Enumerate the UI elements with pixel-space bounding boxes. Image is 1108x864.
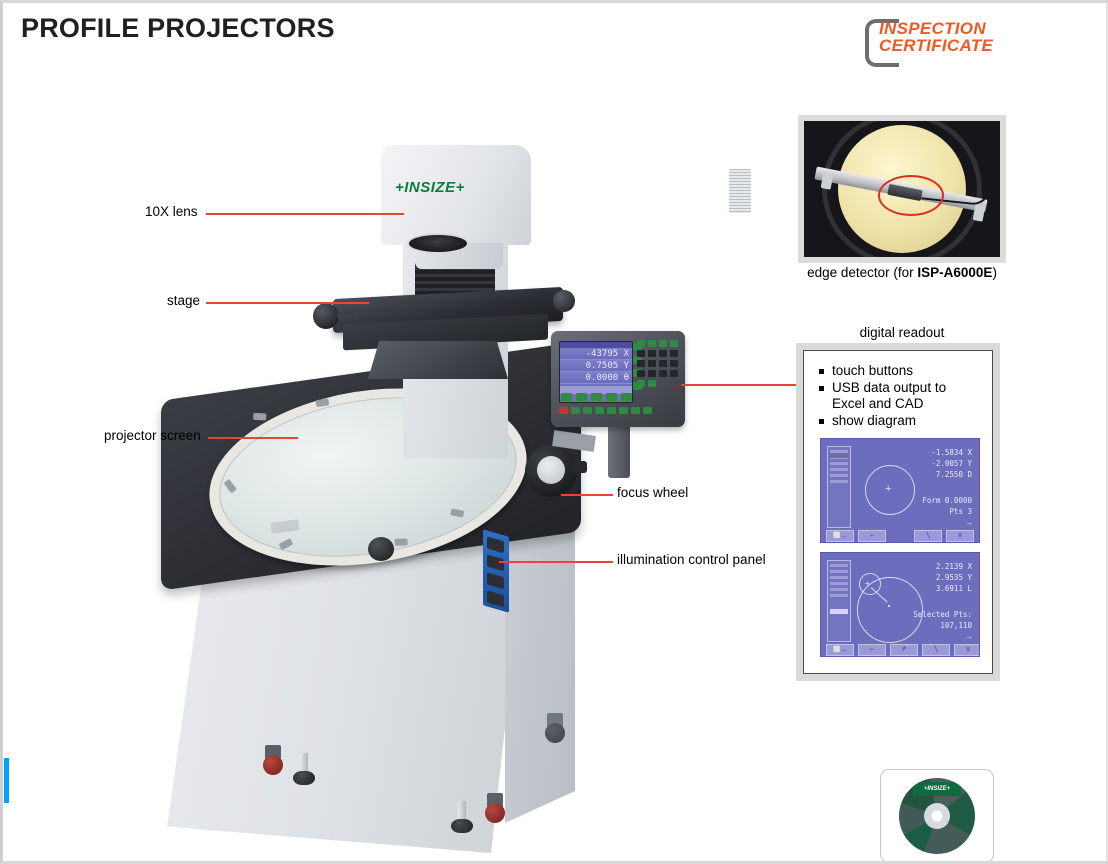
illumination-switch[interactable] [487,590,504,607]
dro-readings: 2.2139 X 2.9535 Y 3.6911 L [936,561,972,594]
dro-function-key[interactable] [606,393,617,401]
dro-key[interactable] [637,360,645,367]
dro-bottom-key[interactable] [607,407,616,414]
dro-key[interactable] [648,380,656,387]
dro-next-arrow-icon[interactable]: → [965,632,973,641]
dro-extra-readings: Form 0.0000 Pts 3 [922,495,972,517]
caster-wheel [261,745,285,775]
screen-lock-knob[interactable] [368,537,394,561]
dro-toolbar[interactable]: ⬜→ ⌐ ╲ ≡ [821,529,979,542]
dro-value-x: -43795 X [560,348,632,360]
dro-bottom-key[interactable] [619,407,628,414]
dro-tool-button[interactable]: ⬜→ [826,644,854,656]
dro-bottom-key[interactable] [571,407,580,414]
dro-key[interactable] [637,380,645,387]
callout-leader-illumination-control-panel [499,561,613,563]
dro-function-key[interactable] [576,393,587,401]
dro-plot-center-dot [888,605,890,607]
dro-value-y: 0.7505 Y [560,360,632,372]
focus-wheel[interactable] [525,445,577,497]
dro-function-key[interactable] [591,393,602,401]
callout-leader-digital-readout [681,384,797,386]
dro-function-key[interactable] [621,393,632,401]
dro-key[interactable] [659,360,667,367]
edge-detector-image [798,115,1006,263]
screen-clip [253,413,266,421]
dro-tool-button[interactable]: ⬜→ [826,530,854,542]
stage-base [368,341,508,379]
dro-key[interactable] [637,340,645,347]
edge-detector-model: ISP-A6000E [917,265,992,280]
focus-arm [571,461,587,473]
dro-bottom-key[interactable] [583,407,592,414]
dro-sidebar [827,560,851,642]
dro-bottom-key[interactable] [643,407,652,414]
dro-bottom-key[interactable] [595,407,604,414]
dro-function-key[interactable] [561,393,572,401]
dro-reading: 2.9535 Y [936,572,972,583]
stage-shaft-left [337,312,359,319]
dro-key[interactable] [648,340,656,347]
stage-knob-left[interactable] [313,303,339,329]
callout-leader-projector-screen [208,437,298,439]
digital-readout-panel: touch buttons USB data output to Excel a… [796,343,1000,681]
dro-screenshot-line: + 2.2139 X 2.9535 Y 3.6911 L Selected Pt… [820,552,980,657]
dro-sidebar [827,446,851,528]
dro-plot-crosshair: + [885,484,891,495]
callout-label-stage: stage [167,293,200,308]
dro-key[interactable] [637,370,645,377]
dro-key[interactable] [670,340,678,347]
dro-reading: 7.2550 D [931,469,972,480]
dro-reading: -2.0057 Y [931,458,972,469]
certificate-line2: CERTIFICATE [879,37,993,54]
edge-detector-caption: edge detector (for ISP-A6000E) [798,265,1006,280]
callout-leader-stage [206,302,369,304]
dro-bottom-keys[interactable] [559,407,652,414]
dro-key[interactable] [670,370,678,377]
dro-tool-button[interactable]: ⌐ [858,530,886,542]
stage-knob-right[interactable] [553,290,575,312]
digital-readout-title: digital readout [798,325,1006,340]
illumination-switch[interactable] [487,536,504,553]
leveling-foot [451,801,473,835]
dro-key[interactable] [659,350,667,357]
dro-key[interactable] [659,340,667,347]
dro-tool-button[interactable]: ╲ [922,644,950,656]
dro-extra-readings: Selected Pts: 107,110 [913,609,972,631]
dro-points-value: Pts 3 [922,506,972,517]
dro-keypad[interactable] [637,340,679,390]
objective-lens [409,235,467,252]
dro-tool-button[interactable]: ╲ [914,530,942,542]
dro-toolbar[interactable]: ⬜→ ⌐ ↱ ╲ ≡ [821,643,979,656]
dro-key[interactable] [648,370,656,377]
edge-detector-bar-tip [973,204,986,222]
dro-tool-button[interactable]: ≡ [946,530,974,542]
dro-next-arrow-icon[interactable]: → [965,518,973,527]
dro-key[interactable] [648,360,656,367]
feature-item: touch buttons [818,363,982,379]
dro-bottom-key[interactable] [631,407,640,414]
callout-label-illumination-control-panel: illumination control panel [617,552,766,567]
illumination-control-panel[interactable] [483,529,509,612]
dro-form-value: Form 0.0000 [922,495,972,506]
insize-logo: +INSIZE+ [395,179,465,196]
software-cd-box: +INSIZE+ [880,769,994,863]
dro-screenshot-circle: + -1.5834 X -2.0057 Y 7.2550 D Form 0.00… [820,438,980,543]
digital-readout-feature-list: touch buttons USB data output to Excel a… [818,363,982,429]
edge-detector-caption-suffix: ) [992,265,997,280]
callout-label-focus-wheel: focus wheel [617,485,688,500]
inspection-certificate-logo: INSPECTION CERTIFICATE [865,17,1015,65]
dro-tool-button[interactable]: ↱ [890,644,918,656]
screen-clip [395,539,408,546]
dro-tool-button[interactable]: ≡ [954,644,980,656]
dro-reading: 3.6911 L [936,583,972,594]
illumination-switch[interactable] [487,554,504,571]
dro-reading: 2.2139 X [936,561,972,572]
dro-function-keys[interactable] [561,393,632,401]
dro-selected-points-label: Selected Pts: [913,609,972,620]
callout-leader-focus-wheel [561,494,613,496]
feature-item: show diagram [818,413,982,429]
dro-value-angle: 0.0000 θ [560,372,632,384]
dro-unit[interactable]: -43795 X 0.7505 Y 0.0000 θ [551,331,685,427]
dro-key[interactable] [648,350,656,357]
dro-power-key[interactable] [559,407,568,414]
edge-detector-caption-prefix: edge detector (for [807,265,917,280]
dro-selected-points-value: 107,110 [913,620,972,631]
illumination-switch[interactable] [487,572,504,589]
dro-key[interactable] [670,360,678,367]
dro-tool-button[interactable]: ⌐ [858,644,886,656]
left-edge-marker [4,758,9,803]
feature-item: USB data output to Excel and CAD [818,380,982,412]
dro-reading: -1.5834 X [931,447,972,458]
page-title: PROFILE PROJECTORS [21,13,335,44]
cd-center-hole [932,811,943,822]
callout-label-10x-lens: 10X lens [145,204,198,219]
edge-detector-highlight-ellipse [878,175,944,216]
leveling-foot [293,753,315,787]
certificate-line1: INSPECTION [879,20,993,37]
cd-brand-label: +INSIZE+ [913,782,961,796]
dro-plot-point-circle [859,573,881,595]
dro-key[interactable] [670,350,678,357]
caster-wheel [543,713,567,743]
dro-key[interactable] [637,350,645,357]
dro-readings: -1.5834 X -2.0057 Y 7.2550 D [931,447,972,480]
dro-key[interactable] [659,370,667,377]
callout-leader-10x-lens [206,213,404,215]
callout-label-projector-screen: projector screen [104,428,201,443]
cd-disc: +INSIZE+ [899,778,975,854]
dro-plot-crosshair: + [865,578,870,589]
cabinet-side [505,503,575,823]
caster-wheel [483,793,507,823]
catalog-page: PROFILE PROJECTORS INSPECTION CERTIFICAT… [0,0,1108,864]
head-vent [729,169,751,213]
